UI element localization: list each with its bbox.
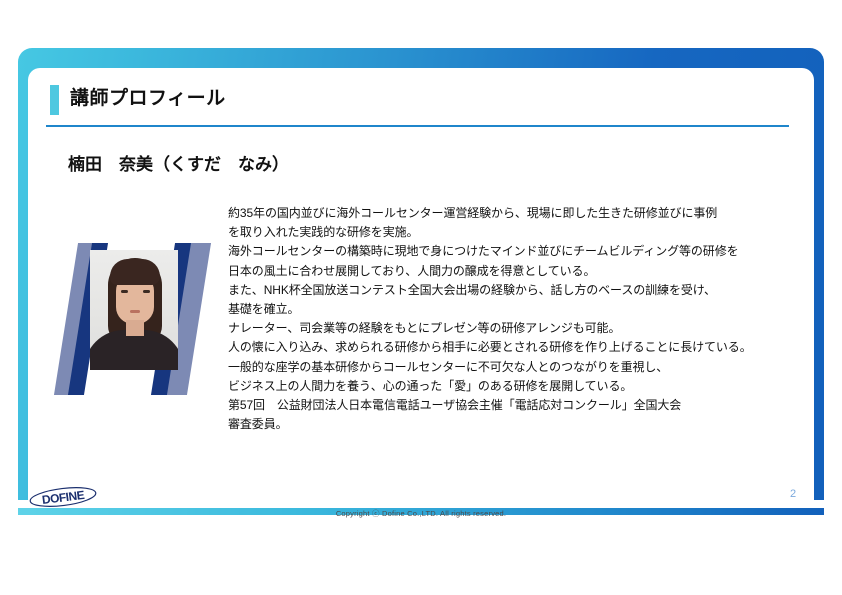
bio-line: を取り入れた実践的な研修を実施。 xyxy=(228,223,818,242)
portrait-eye-right xyxy=(143,290,150,293)
bio-line: 基礎を確立。 xyxy=(228,300,818,319)
portrait-mouth xyxy=(130,310,140,313)
instructor-bio: 約35年の国内並びに海外コールセンター運営経験から、現場に即した生きた研修並びに… xyxy=(228,204,818,434)
portrait-eye-left xyxy=(121,290,128,293)
dofine-logo-mark: DOFINE xyxy=(28,485,98,509)
portrait-neck xyxy=(126,320,144,336)
instructor-name: 楠田 奈美（くすだ なみ） xyxy=(68,150,289,175)
bio-line: ナレーター、司会業等の経験をもとにプレゼン等の研修アレンジも可能。 xyxy=(228,319,818,338)
portrait-shoulders xyxy=(90,330,178,370)
title-divider xyxy=(46,125,789,127)
bio-line: 審査委員。 xyxy=(228,415,818,434)
bio-line: また、NHK杯全国放送コンテスト全国大会出場の経験から、話し方のベースの訓練を受… xyxy=(228,281,818,300)
bio-line: 海外コールセンターの構築時に現地で身につけたマインド並びにチームビルディング等の… xyxy=(228,242,818,261)
bio-line: ビジネス上の人間力を養う、心の通った「愛」のある研修を展開している。 xyxy=(228,377,818,396)
title-accent-bar xyxy=(50,85,59,115)
copyright-notice: Copyright ⓒ Dofine Co.,LTD. All rights r… xyxy=(0,508,842,519)
portrait-hair-front xyxy=(110,259,160,285)
bio-line: 日本の風土に合わせ展開しており、人間力の醸成を得意としている。 xyxy=(228,262,818,281)
bio-line: 一般的な座学の基本研修からコールセンターに不可欠な人とのつながりを重視し、 xyxy=(228,358,818,377)
page-number: 2 xyxy=(778,488,808,500)
bio-line: 約35年の国内並びに海外コールセンター運営経験から、現場に即した生きた研修並びに… xyxy=(228,204,818,223)
instructor-photo-frame xyxy=(60,243,210,395)
slide-header: 講師プロフィール xyxy=(28,82,814,122)
bio-line: 第57回 公益財団法人日本電信電話ユーザ協会主催「電話応対コンクール」全国大会 xyxy=(228,396,818,415)
page-title: 講師プロフィール xyxy=(70,84,226,114)
instructor-portrait-photo xyxy=(90,250,178,370)
slide-canvas: 講師プロフィール 楠田 奈美（くすだ なみ） 約35年の国内並びに海外コールセン… xyxy=(0,0,842,595)
dofine-logo: DOFINE xyxy=(28,485,98,509)
bio-line: 人の懐に入り込み、求められる研修から相手に必要とされる研修を作り上げることに長け… xyxy=(228,338,818,357)
